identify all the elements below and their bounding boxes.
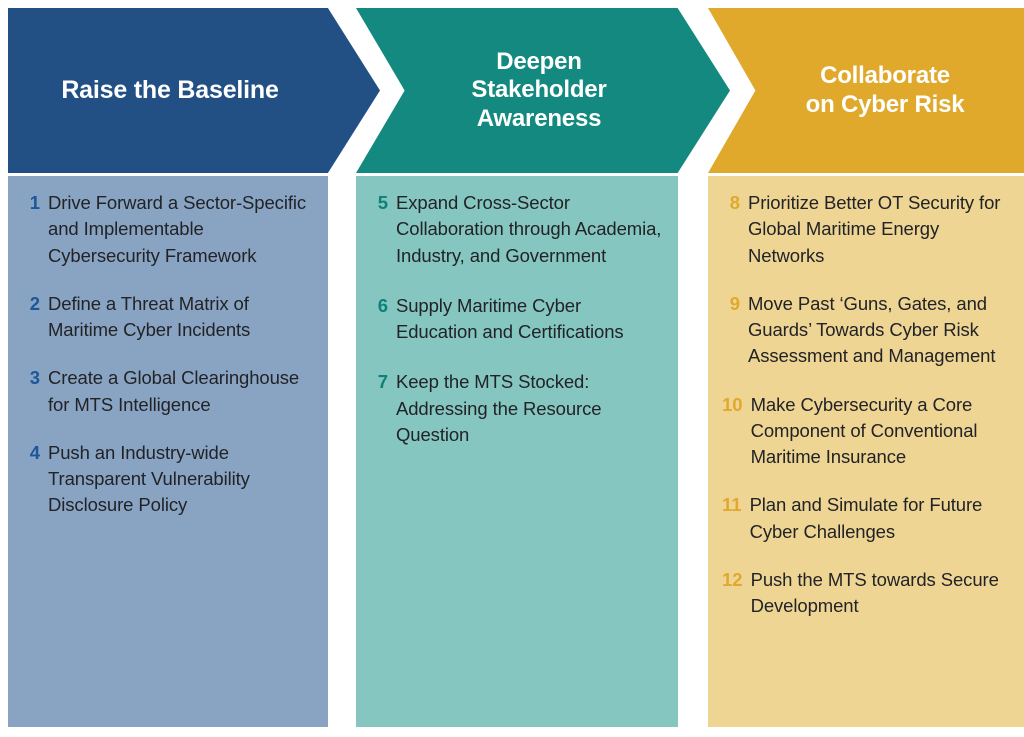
list-item-number: 10	[722, 392, 751, 418]
list-item: 11 Plan and Simulate for Future Cyber Ch…	[722, 492, 1010, 545]
list-item: 7 Keep the MTS Stocked: Addressing the R…	[370, 369, 664, 448]
stage-header-deepen-stakeholder-awareness: Deepen Stakeholder Awareness	[356, 8, 730, 173]
infographic-root: Raise the Baseline 1 Drive Forward a Sec…	[0, 0, 1024, 737]
stage-header-collaborate-on-cyber-risk: Collaborate on Cyber Risk	[708, 8, 1024, 173]
recommendation-list-stage-2: 5 Expand Cross-Sector Collaboration thro…	[370, 190, 664, 448]
list-item: 2 Define a Threat Matrix of Maritime Cyb…	[22, 291, 314, 344]
list-item-number: 1	[22, 190, 48, 216]
list-item-text: Drive Forward a Sector-Specific and Impl…	[48, 190, 314, 269]
list-item: 3 Create a Global Clearinghouse for MTS …	[22, 365, 314, 418]
stage-body-raise-the-baseline: 1 Drive Forward a Sector-Specific and Im…	[8, 176, 328, 727]
list-item: 6 Supply Maritime Cyber Education and Ce…	[370, 293, 664, 346]
list-item-text: Make Cybersecurity a Core Component of C…	[751, 392, 1010, 471]
list-item-text: Plan and Simulate for Future Cyber Chall…	[750, 492, 1010, 545]
list-item-number: 2	[22, 291, 48, 317]
list-item-text: Keep the MTS Stocked: Addressing the Res…	[396, 369, 664, 448]
list-item: 4 Push an Industry-wide Transparent Vuln…	[22, 440, 314, 519]
list-item-number: 6	[370, 293, 396, 319]
list-item-text: Expand Cross-Sector Collaboration throug…	[396, 190, 664, 269]
stage-column-deepen-stakeholder-awareness: Deepen Stakeholder Awareness 5 Expand Cr…	[356, 8, 678, 727]
list-item-text: Prioritize Better OT Security for Global…	[748, 190, 1010, 269]
stage-header-title: Raise the Baseline	[8, 76, 380, 106]
list-item: 10 Make Cybersecurity a Core Component o…	[722, 392, 1010, 471]
stage-body-collaborate-on-cyber-risk: 8 Prioritize Better OT Security for Glob…	[708, 176, 1024, 727]
list-item-number: 7	[370, 369, 396, 395]
stage-header-title: Collaborate on Cyber Risk	[708, 62, 1024, 119]
list-item-text: Push the MTS towards Secure Development	[751, 567, 1010, 620]
list-item-text: Push an Industry-wide Transparent Vulner…	[48, 440, 314, 519]
stage-body-deepen-stakeholder-awareness: 5 Expand Cross-Sector Collaboration thro…	[356, 176, 678, 727]
list-item-number: 4	[22, 440, 48, 466]
stage-header-raise-the-baseline: Raise the Baseline	[8, 8, 380, 173]
list-item: 9 Move Past ‘Guns, Gates, and Guards’ To…	[722, 291, 1010, 370]
list-item-text: Create a Global Clearinghouse for MTS In…	[48, 365, 314, 418]
list-item-text: Supply Maritime Cyber Education and Cert…	[396, 293, 664, 346]
stage-column-collaborate-on-cyber-risk: Collaborate on Cyber Risk 8 Prioritize B…	[708, 8, 1024, 727]
list-item-number: 11	[722, 492, 750, 518]
stage-header-title: Deepen Stakeholder Awareness	[356, 48, 730, 133]
list-item: 5 Expand Cross-Sector Collaboration thro…	[370, 190, 664, 269]
list-item-number: 12	[722, 567, 751, 593]
list-item-number: 5	[370, 190, 396, 216]
recommendation-list-stage-1: 1 Drive Forward a Sector-Specific and Im…	[22, 190, 314, 519]
list-item-number: 9	[722, 291, 748, 317]
list-item: 1 Drive Forward a Sector-Specific and Im…	[22, 190, 314, 269]
list-item: 8 Prioritize Better OT Security for Glob…	[722, 190, 1010, 269]
list-item-number: 3	[22, 365, 48, 391]
list-item-text: Move Past ‘Guns, Gates, and Guards’ Towa…	[748, 291, 1010, 370]
list-item-number: 8	[722, 190, 748, 216]
stage-column-raise-the-baseline: Raise the Baseline 1 Drive Forward a Sec…	[8, 8, 328, 727]
list-item: 12 Push the MTS towards Secure Developme…	[722, 567, 1010, 620]
recommendation-list-stage-3: 8 Prioritize Better OT Security for Glob…	[722, 190, 1010, 619]
list-item-text: Define a Threat Matrix of Maritime Cyber…	[48, 291, 314, 344]
